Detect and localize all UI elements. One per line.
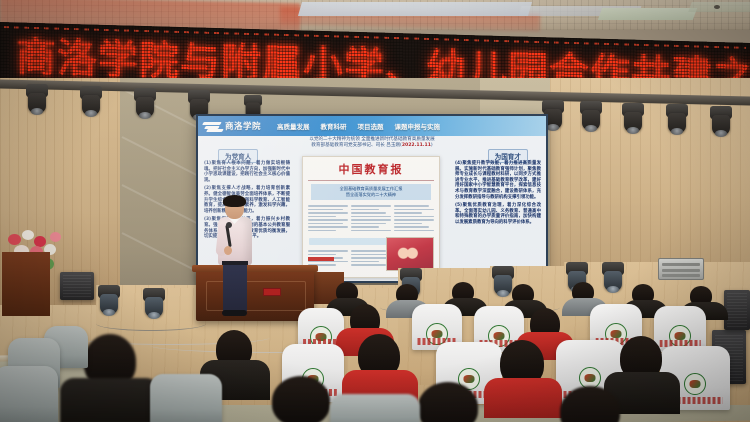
stage-light-icon bbox=[24, 84, 50, 118]
stage-light-icon bbox=[78, 86, 104, 120]
newspaper-columns bbox=[303, 202, 439, 236]
university-logo: 商洛学院 bbox=[203, 120, 261, 132]
slide-nav-item-2: 项目选题 bbox=[358, 121, 384, 131]
newspaper-image: 中国教育报 全国基础教育高质量发展工作汇报 暨全面落实党的二十大精神 bbox=[302, 156, 440, 278]
ceiling-slab bbox=[598, 8, 697, 20]
ceiling-panel bbox=[298, 2, 532, 16]
chair-side bbox=[0, 366, 58, 422]
slide-subtitle-line2-suffix: ) bbox=[431, 143, 433, 148]
newspaper-photo bbox=[386, 237, 434, 271]
newspaper-headline: 全国基础教育高质量发展工作汇报 暨全面落实党的二十大精神 bbox=[311, 184, 431, 200]
logo-mark-icon bbox=[203, 121, 223, 131]
logo-text: 商洛学院 bbox=[225, 120, 261, 132]
slide-nav: 高质量发展 教育科研 项目选题 课题申报与实施 bbox=[277, 121, 440, 131]
slide-subtitle: 以党的二十大精神为统领 全面推进新时代基础教育高质量发展 教育部基础教育司党支部… bbox=[198, 137, 546, 149]
ceiling-speaker-dot bbox=[714, 5, 720, 9]
stage-light-icon bbox=[664, 104, 690, 138]
chair-side bbox=[150, 374, 222, 422]
slide-subtitle-line2-prefix: 教育部基础教育司党支部书记、司长 吕玉刚( bbox=[311, 143, 402, 148]
slide-subtitle-date: 2022.11.11 bbox=[402, 143, 431, 148]
chair-side bbox=[330, 394, 420, 422]
audience-head bbox=[272, 376, 330, 422]
slide-nav-item-3: 课题申报与实施 bbox=[395, 121, 441, 131]
newspaper-column bbox=[394, 205, 434, 233]
audience bbox=[0, 282, 750, 422]
stage-light-icon bbox=[132, 88, 158, 122]
stage-light-icon bbox=[578, 101, 604, 135]
slide-bullet: (4)聚焦提升教学效能，着力推进高质量发展。实施新时代基础教育强师计划，聚焦教师… bbox=[455, 161, 541, 200]
newspaper-column bbox=[351, 205, 391, 233]
speaker-hair bbox=[223, 195, 246, 207]
audience-uniform bbox=[484, 378, 562, 418]
stage-light-icon bbox=[708, 106, 734, 140]
speaker-hand bbox=[224, 246, 232, 255]
newspaper-column bbox=[308, 205, 348, 233]
slide-nav-item-0: 高质量发展 bbox=[277, 121, 310, 131]
microphone-head-icon bbox=[226, 222, 232, 228]
slide-nav-item-1: 教育科研 bbox=[321, 121, 347, 131]
newspaper-rule bbox=[308, 180, 434, 181]
slide-bullet: (1)聚焦育人根本问题，着力做实培根铸魂。把好社会主义办学方向，加强新时代中小学… bbox=[204, 161, 290, 183]
lecture-hall-photo: 商洛学院与附属小学、幼儿园合作共建之教育科研专题 bbox=[0, 0, 750, 422]
newspaper-masthead: 中国教育报 bbox=[303, 161, 439, 177]
audience-shoulders bbox=[60, 378, 160, 422]
newspaper-red-bar bbox=[308, 257, 334, 261]
slide-bullet: (5)聚焦优质教育治理，着力深化综合改革。全面落实幼儿园、义务教育、普通高中和特… bbox=[455, 203, 541, 225]
newspaper-headline-line2: 暨全面落实党的二十大精神 bbox=[312, 192, 430, 198]
equipment-rack bbox=[658, 258, 704, 280]
slide-header-bar: 商洛学院 高质量发展 教育科研 项目选题 课题申报与实施 bbox=[198, 116, 546, 136]
slide-text-column-right: (4)聚焦提升教学效能，着力推进高质量发展。实施新时代基础教育强师计划，聚焦教师… bbox=[455, 161, 541, 229]
newspaper-column bbox=[351, 250, 391, 268]
speaker-belt bbox=[222, 261, 248, 265]
stage-light-icon bbox=[620, 103, 646, 137]
